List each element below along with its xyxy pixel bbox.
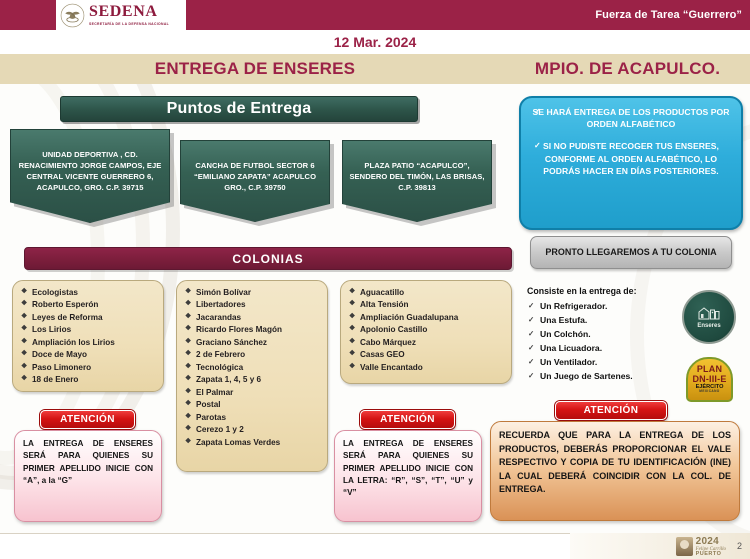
notice-item-1: ✓ SE HARÁ ENTREGA DE LOS PRODUCTOS POR O…	[530, 106, 732, 130]
colonia-name: Aguacatillo	[360, 288, 404, 297]
portrait-icon	[676, 537, 693, 556]
list-item: ❖Zapata 1, 4, 5 y 6	[185, 374, 321, 386]
list-item: ✓Un Refrigerador.	[527, 300, 677, 314]
warning-box-1: LA ENTREGA DE ENSERES SERÁ PARA QUIENES …	[14, 430, 162, 522]
check-icon: ✓	[534, 106, 541, 117]
colonia-name: Graciano Sánchez	[196, 338, 267, 347]
colonias-column-1: ❖Ecologistas ❖Roberto Esperón ❖Leyes de …	[12, 280, 164, 392]
list-item: ❖Graciano Sánchez	[185, 337, 321, 349]
list-item: ❖Simón Bolívar	[185, 287, 321, 299]
warning-box-3-text: RECUERDA QUE PARA LA ENTREGA DE LOS PROD…	[499, 429, 731, 497]
diamond-bullet-icon: ❖	[349, 362, 355, 373]
diamond-bullet-icon: ❖	[185, 349, 191, 360]
colonia-name: 2 de Febrero	[196, 350, 245, 359]
diamond-bullet-icon: ❖	[349, 337, 355, 348]
diamond-bullet-icon: ❖	[349, 312, 355, 323]
warning-box-2-text: LA ENTREGA DE ENSERES SERÁ PARA QUIENES …	[343, 438, 473, 499]
colonia-name: Zapata Lomas Verdes	[196, 438, 280, 447]
colonia-name: Apolonio Castillo	[360, 325, 427, 334]
colonia-name: Ricardo Flores Magón	[196, 325, 282, 334]
atencion-label: ATENCIÓN	[380, 414, 435, 425]
colonia-name: Los Lirios	[32, 325, 71, 334]
diamond-bullet-icon: ❖	[185, 337, 191, 348]
colonia-name: Doce de Mayo	[32, 350, 87, 359]
colonia-name: Cerezo 1 y 2	[196, 425, 244, 434]
delivery-points-title: Puntos de Entrega	[167, 100, 312, 118]
sedena-logo-subtitle: SECRETARÍA DE LA DEFENSA NACIONAL	[89, 22, 169, 26]
consiste-item: Un Refrigerador.	[540, 301, 607, 311]
list-item: ❖Apolonio Castillo	[349, 324, 505, 336]
check-icon: ✓	[528, 314, 534, 326]
colonia-name: Cabo Márquez	[360, 338, 416, 347]
list-item: ❖Los Lirios	[21, 324, 157, 336]
consiste-item: Un Juego de Sartenes.	[540, 371, 633, 381]
footer: 2024 Felipe Carrillo PUERTO 2	[0, 533, 750, 559]
diamond-bullet-icon: ❖	[21, 299, 27, 310]
colonias-header-bar: COLONIAS	[24, 247, 512, 270]
list-item: ❖Cabo Márquez	[349, 337, 505, 349]
colonia-name: Casas GEO	[360, 350, 405, 359]
diamond-bullet-icon: ❖	[185, 412, 191, 423]
colonia-name: Libertadores	[196, 300, 246, 309]
slide-root: SEDENA SECRETARÍA DE LA DEFENSA NACIONAL…	[0, 0, 750, 559]
list-item: ❖Ampliación los Lirios	[21, 337, 157, 349]
diamond-bullet-icon: ❖	[21, 312, 27, 323]
list-item: ❖Paso Limonero	[21, 362, 157, 374]
list-item: ❖Leyes de Reforma	[21, 312, 157, 324]
diamond-bullet-icon: ❖	[185, 437, 191, 448]
diamond-bullet-icon: ❖	[185, 324, 191, 335]
colonia-name: Valle Encantado	[360, 363, 423, 372]
diamond-bullet-icon: ❖	[185, 362, 191, 373]
consiste-title: Consiste en la entrega de:	[527, 286, 677, 296]
header-bar: SEDENA SECRETARÍA DE LA DEFENSA NACIONAL…	[0, 0, 750, 30]
list-item: ❖Alta Tensión	[349, 299, 505, 311]
consiste-section: Consiste en la entrega de: ✓Un Refrigera…	[527, 286, 677, 384]
colonia-name: Postal	[196, 400, 221, 409]
diamond-bullet-icon: ❖	[21, 337, 27, 348]
colonia-name: Alta Tensión	[360, 300, 409, 309]
colonia-name: El Palmar	[196, 388, 233, 397]
warning-box-3: RECUERDA QUE PARA LA ENTREGA DE LOS PROD…	[490, 421, 740, 521]
atencion-label: ATENCIÓN	[60, 414, 115, 425]
colonia-name: Zapata 1, 4, 5 y 6	[196, 375, 261, 384]
status-badge-atencion-2: ATENCIÓN	[360, 410, 455, 429]
check-icon: ✓	[528, 300, 534, 312]
household-appliances-icon	[697, 306, 721, 321]
colonia-name: Ampliación los Lirios	[32, 338, 115, 347]
colonias-header-label: COLONIAS	[232, 252, 303, 266]
task-force-label: Fuerza de Tarea “Guerrero”	[595, 0, 742, 30]
list-item: ❖Tecnológica	[185, 362, 321, 374]
colonia-name: 18 de Enero	[32, 375, 78, 384]
colonia-name: Ecologistas	[32, 288, 78, 297]
list-item: ❖Postal	[185, 399, 321, 411]
status-badge-atencion-1: ATENCIÓN	[40, 410, 135, 429]
status-badge-atencion-3: ATENCIÓN	[555, 401, 667, 420]
title-right: MPIO. DE ACAPULCO.	[505, 59, 750, 79]
list-item: ✓Un Colchón.	[527, 328, 677, 342]
diamond-bullet-icon: ❖	[349, 349, 355, 360]
list-item: ❖Libertadores	[185, 299, 321, 311]
list-item: ❖El Palmar	[185, 387, 321, 399]
consiste-item: Una Licuadora.	[540, 343, 602, 353]
list-item: ❖Casas GEO	[349, 349, 505, 361]
slide-date: 12 Mar. 2024	[334, 34, 417, 50]
list-item: ✓Una Estufa.	[527, 314, 677, 328]
check-icon: ✓	[534, 140, 541, 151]
page-number: 2	[737, 541, 742, 551]
colonias-column-2: ❖Simón Bolívar ❖Libertadores ❖Jacarandas…	[176, 280, 328, 472]
list-item: ❖Ricardo Flores Magón	[185, 324, 321, 336]
plan-dn3e-emblem: PLAN DN-III-E EJÉRCITO MEXICANO	[686, 357, 733, 402]
list-item: ❖2 de Febrero	[185, 349, 321, 361]
consiste-item: Un Colchón.	[540, 329, 591, 339]
colonia-name: Parotas	[196, 413, 226, 422]
header-left-block	[0, 0, 56, 30]
list-item: ❖Doce de Mayo	[21, 349, 157, 361]
alphabetic-order-notice: ✓ SE HARÁ ENTREGA DE LOS PRODUCTOS POR O…	[519, 96, 743, 230]
warning-box-1-text: LA ENTREGA DE ENSERES SERÁ PARA QUIENES …	[23, 438, 153, 487]
check-icon: ✓	[528, 370, 534, 382]
delivery-points-header: Puntos de Entrega	[60, 96, 418, 122]
list-item: ❖Jacarandas	[185, 312, 321, 324]
delivery-point-text-1: UNIDAD DEPORTIVA , CD. RENACIMIENTO JORG…	[17, 149, 163, 193]
footer-commemorative-mark: 2024 Felipe Carrillo PUERTO	[676, 537, 726, 558]
title-band: ENTREGA DE ENSERES MPIO. DE ACAPULCO.	[0, 54, 750, 84]
plan-line-2: DN-III-E	[692, 375, 726, 384]
check-icon: ✓	[528, 328, 534, 340]
notice-item-1-text: SE HARÁ ENTREGA DE LOS PRODUCTOS POR ORD…	[532, 107, 729, 129]
notice-item-2-text: SI NO PUDISTE RECOGER TUS ENSERES, CONFO…	[543, 141, 719, 175]
mexican-eagle-emblem-icon	[60, 3, 85, 28]
delivery-point-text-2: CANCHA DE FUTBOL SECTOR 6 “EMILIANO ZAPA…	[187, 160, 323, 193]
delivery-point-text-3: PLAZA PATIO “ACAPULCO”, SENDERO DEL TIMÓ…	[349, 160, 485, 193]
diamond-bullet-icon: ❖	[21, 349, 27, 360]
diamond-bullet-icon: ❖	[185, 312, 191, 323]
colonia-name: Paso Limonero	[32, 363, 91, 372]
colonia-name: Ampliación Guadalupana	[360, 313, 458, 322]
diamond-bullet-icon: ❖	[185, 374, 191, 385]
colonia-name: Jacarandas	[196, 313, 241, 322]
colonia-name: Leyes de Reforma	[32, 313, 103, 322]
diamond-bullet-icon: ❖	[185, 424, 191, 435]
colonia-name: Simón Bolívar	[196, 288, 251, 297]
diamond-bullet-icon: ❖	[21, 362, 27, 373]
list-item: ✓Una Licuadora.	[527, 342, 677, 356]
atencion-label: ATENCIÓN	[584, 405, 639, 416]
sedena-logo: SEDENA SECRETARÍA DE LA DEFENSA NACIONAL	[56, 0, 188, 30]
plan-line-4: MEXICANO	[699, 390, 719, 393]
sedena-logo-text: SEDENA SECRETARÍA DE LA DEFENSA NACIONAL	[89, 4, 169, 26]
list-item: ❖Valle Encantado	[349, 362, 505, 374]
diamond-bullet-icon: ❖	[185, 287, 191, 298]
list-item: ❖Zapata Lomas Verdes	[185, 437, 321, 449]
diamond-bullet-icon: ❖	[21, 374, 27, 385]
diamond-bullet-icon: ❖	[21, 324, 27, 335]
diamond-bullet-icon: ❖	[185, 299, 191, 310]
check-icon: ✓	[528, 342, 534, 354]
pronto-llegaremos-label: PRONTO LLEGAREMOS A TU COLONIA	[545, 246, 716, 258]
list-item: ❖Ampliación Guadalupana	[349, 312, 505, 324]
list-item: ❖Roberto Esperón	[21, 299, 157, 311]
footer-year: 2024	[696, 537, 726, 547]
list-item: ❖Ecologistas	[21, 287, 157, 299]
diamond-bullet-icon: ❖	[185, 399, 191, 410]
warning-box-2: LA ENTREGA DE ENSERES SERÁ PARA QUIENES …	[334, 430, 482, 522]
enseres-emblem-label: Enseres	[697, 323, 720, 329]
sedena-logo-name: SEDENA	[89, 4, 169, 20]
diamond-bullet-icon: ❖	[21, 287, 27, 298]
diamond-bullet-icon: ❖	[349, 299, 355, 310]
colonia-name: Tecnológica	[196, 363, 243, 372]
diamond-bullet-icon: ❖	[349, 324, 355, 335]
consiste-item: Una Estufa.	[540, 315, 587, 325]
title-left: ENTREGA DE ENSERES	[0, 59, 510, 79]
footer-name-line-2: PUERTO	[696, 552, 726, 558]
list-item: ❖Aguacatillo	[349, 287, 505, 299]
list-item: ❖18 de Enero	[21, 374, 157, 386]
diamond-bullet-icon: ❖	[185, 387, 191, 398]
list-item: ❖Cerezo 1 y 2	[185, 424, 321, 436]
list-item: ✓Un Ventilador.	[527, 356, 677, 370]
consiste-item: Un Ventilador.	[540, 357, 597, 367]
colonia-name: Roberto Esperón	[32, 300, 98, 309]
pronto-llegaremos-button[interactable]: PRONTO LLEGAREMOS A TU COLONIA	[530, 236, 732, 269]
diamond-bullet-icon: ❖	[349, 287, 355, 298]
enseres-emblem: Enseres	[682, 290, 736, 344]
notice-item-2: ✓ SI NO PUDISTE RECOGER TUS ENSERES, CON…	[530, 140, 732, 177]
list-item: ❖Parotas	[185, 412, 321, 424]
date-row: 12 Mar. 2024	[0, 30, 750, 54]
check-icon: ✓	[528, 356, 534, 368]
colonias-column-3: ❖Aguacatillo ❖Alta Tensión ❖Ampliación G…	[340, 280, 512, 384]
list-item: ✓Un Juego de Sartenes.	[527, 370, 677, 384]
